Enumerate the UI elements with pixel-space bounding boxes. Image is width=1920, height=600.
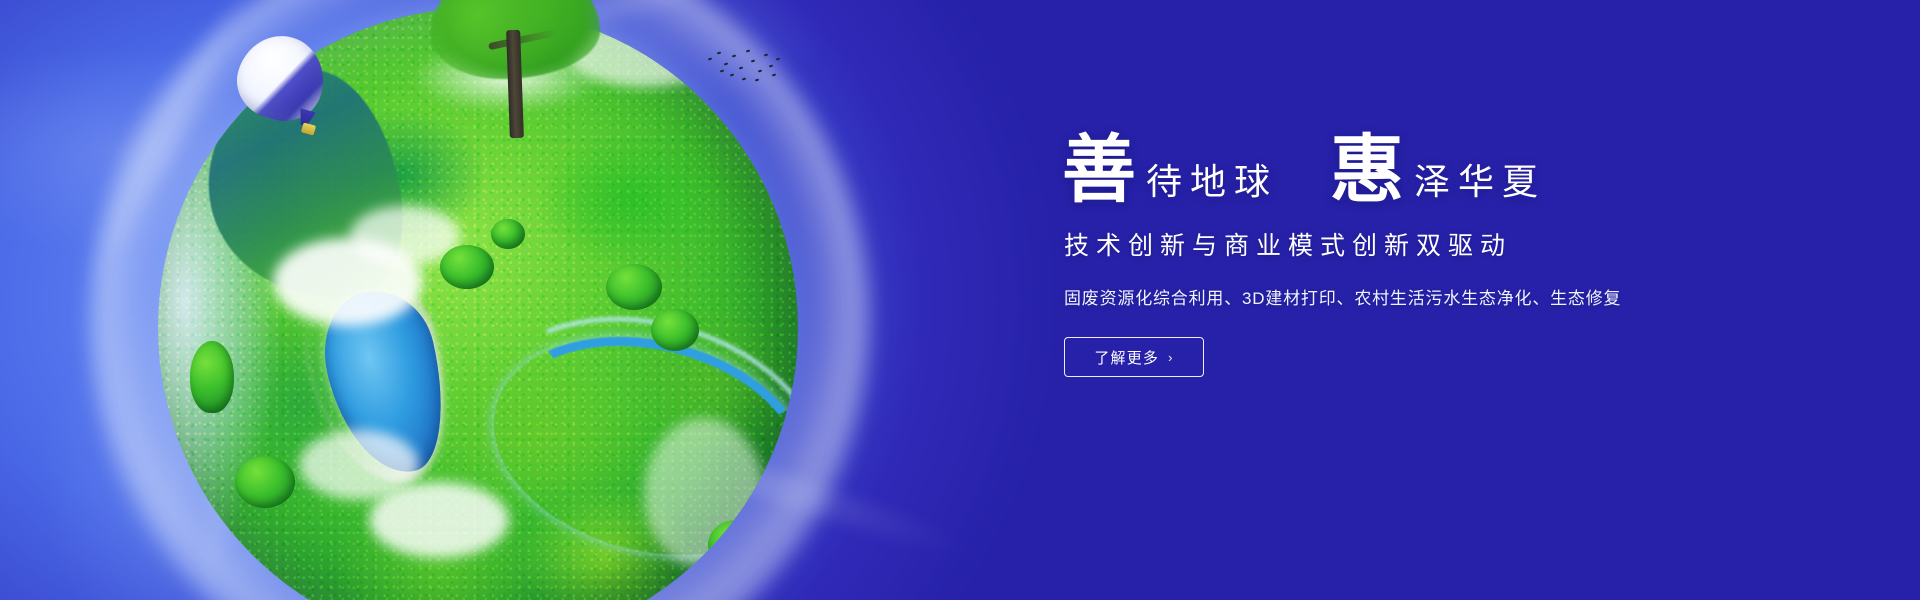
tree-mist — [412, 42, 602, 112]
balloon-envelope — [228, 26, 334, 130]
hero-subtitle: 技术创新与商业模式创新双驱动 — [1064, 226, 1762, 262]
headline-char-primary-2: 惠 — [1330, 134, 1404, 208]
balloon-basket — [301, 122, 316, 135]
bird-flock-icon — [706, 48, 786, 94]
hero-banner: 善 待地球 惠 泽华夏 技术创新与商业模式创新双驱动 固废资源化综合利用、3D建… — [0, 0, 1920, 600]
bush — [190, 341, 234, 413]
hot-air-balloon-icon — [238, 36, 330, 142]
bush — [708, 520, 764, 570]
bush — [491, 219, 525, 249]
hero-copy: 善 待地球 惠 泽华夏 技术创新与商业模式创新双驱动 固废资源化综合利用、3D建… — [1062, 130, 1762, 377]
learn-more-label: 了解更多 — [1094, 347, 1159, 368]
bush — [235, 456, 295, 508]
headline-char-primary-1: 善 — [1062, 134, 1136, 208]
bush — [606, 264, 662, 310]
chevron-right-icon: › — [1168, 350, 1174, 365]
learn-more-button[interactable]: 了解更多 › — [1064, 337, 1204, 377]
headline-text-1: 待地球 — [1136, 164, 1278, 204]
bush — [440, 245, 494, 289]
page-title: 善 待地球 惠 泽华夏 — [1062, 130, 1762, 204]
bush — [651, 309, 699, 351]
globe-cloud — [369, 482, 509, 558]
headline-text-2: 泽华夏 — [1404, 164, 1546, 204]
hero-description: 固废资源化综合利用、3D建材打印、农村生活污水生态净化、生态修复 — [1064, 284, 1762, 309]
